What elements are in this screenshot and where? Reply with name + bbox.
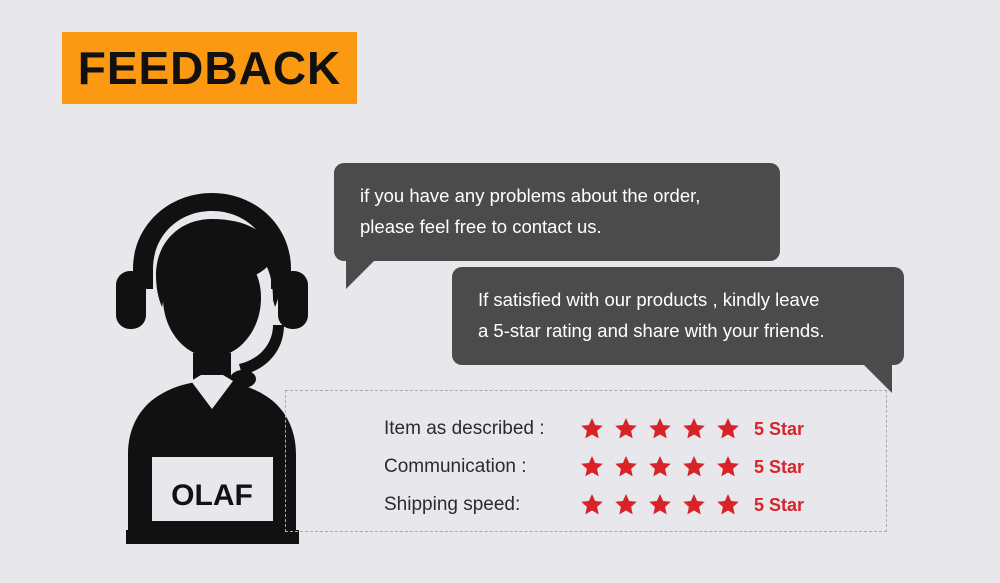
bubble-order-help-line1: if you have any problems about the order… — [360, 180, 758, 211]
speech-bubble-rating-request: If satisfied with our products , kindly … — [452, 267, 904, 365]
bubble-rating-request-line2: a 5-star rating and share with your frie… — [478, 315, 882, 346]
rating-label: Shipping speed: — [384, 494, 520, 516]
star-icon — [681, 416, 707, 442]
rating-stars — [579, 416, 741, 442]
ratings-panel: Item as described : 5 Star Communication… — [285, 390, 887, 532]
star-icon — [579, 492, 605, 518]
star-icon — [613, 454, 639, 480]
star-icon — [715, 454, 741, 480]
rating-label: Item as described : — [384, 418, 545, 440]
star-icon — [715, 492, 741, 518]
feedback-banner-image: FEEDBACK — [0, 0, 1000, 583]
star-icon — [613, 416, 639, 442]
feedback-title-text: FEEDBACK — [78, 45, 342, 91]
bubble-rating-request-line1: If satisfied with our products , kindly … — [478, 284, 882, 315]
bubble-tail-icon — [346, 259, 376, 289]
bubble-order-help-line2: please feel free to contact us. — [360, 211, 758, 242]
rating-value: 5 Star — [754, 457, 804, 478]
rating-row: Item as described : 5 Star — [286, 410, 886, 448]
star-icon — [647, 454, 673, 480]
star-icon — [647, 416, 673, 442]
star-icon — [579, 416, 605, 442]
star-icon — [715, 416, 741, 442]
rating-stars — [579, 454, 741, 480]
bubble-tail-icon — [862, 363, 892, 393]
laptop-label: OLAF — [171, 479, 253, 512]
speech-bubble-order-help: if you have any problems about the order… — [334, 163, 780, 261]
rating-row: Communication : 5 Star — [286, 448, 886, 486]
rating-label: Communication : — [384, 456, 527, 478]
feedback-title-banner: FEEDBACK — [62, 32, 357, 104]
rating-stars — [579, 492, 741, 518]
rating-row: Shipping speed: 5 Star — [286, 486, 886, 524]
star-icon — [681, 492, 707, 518]
star-icon — [579, 454, 605, 480]
rating-value: 5 Star — [754, 419, 804, 440]
star-icon — [681, 454, 707, 480]
star-icon — [647, 492, 673, 518]
rating-value: 5 Star — [754, 495, 804, 516]
star-icon — [613, 492, 639, 518]
